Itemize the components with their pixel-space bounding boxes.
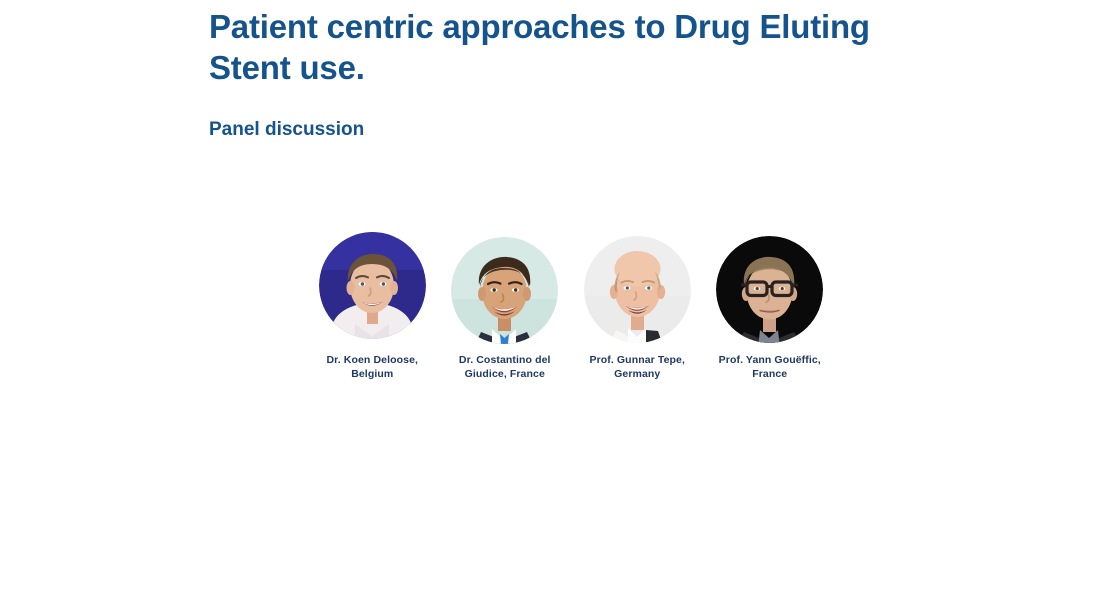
page-title: Patient centric approaches to Drug Eluti… [209, 6, 929, 88]
slide-canvas: Patient centric approaches to Drug Eluti… [0, 0, 1100, 600]
panelist-item[interactable]: Prof. Yann Gouëffic, France [704, 232, 837, 381]
panelist-item[interactable]: Prof. Gunnar Tepe, Germany [571, 232, 704, 381]
avatar [319, 232, 426, 339]
panelist-name: Prof. Yann Gouëffic, France [707, 354, 832, 381]
avatar [451, 237, 558, 344]
panelist-name: Dr. Koen Deloose, Belgium [310, 354, 435, 381]
avatar [716, 236, 823, 343]
title-block: Patient centric approaches to Drug Eluti… [209, 6, 929, 88]
panelist-item[interactable]: Dr. Costantino del Giudice, France [439, 232, 572, 381]
panelist-item[interactable]: Dr. Koen Deloose, Belgium [306, 232, 439, 381]
slide-subtitle: Panel discussion [209, 118, 364, 142]
panelist-name: Prof. Gunnar Tepe, Germany [575, 354, 700, 381]
panelist-name: Dr. Costantino del Giudice, France [442, 354, 567, 381]
panelist-list: Dr. Koen Deloose, Belgium [306, 232, 836, 381]
avatar [584, 236, 691, 343]
